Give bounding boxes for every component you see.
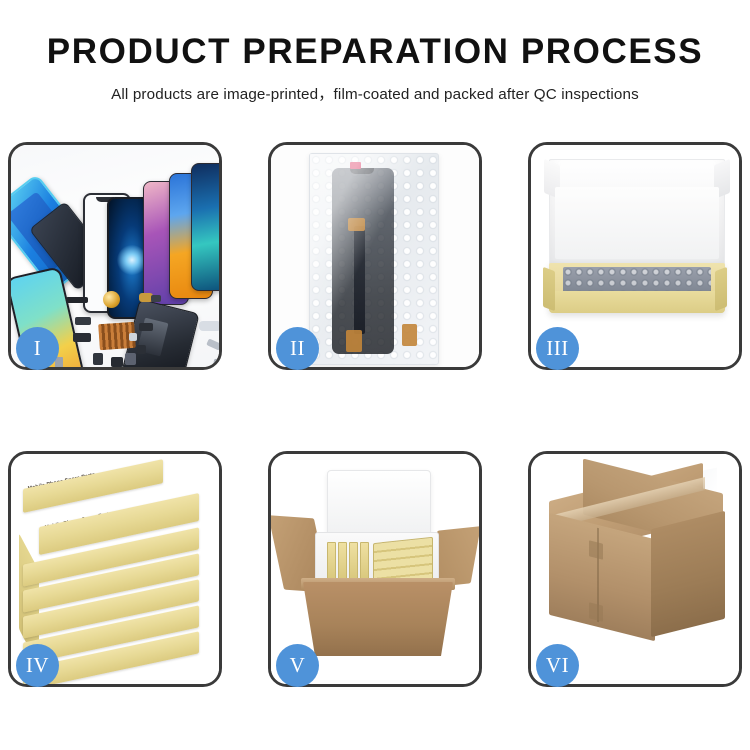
kraft-box-item [349,542,358,580]
step-panel-5: V [268,451,482,687]
qc-sticker-icon [350,162,361,169]
step-panel-1: I [8,142,222,370]
part-icon [129,333,137,341]
teal-display-icon [191,163,219,291]
step-badge-1: I [16,327,59,370]
page-subtitle: All products are image-printed，film-coat… [0,82,750,104]
step-panel-2: II [268,142,482,370]
step-panel-3: III [528,142,742,370]
carton-body [303,582,453,656]
kraft-tray-front [549,291,725,313]
page-title: PRODUCT PREPARATION PROCESS [0,34,750,71]
part-icon [66,297,88,303]
screwdriver-icon [206,338,219,350]
part-icon [139,323,153,331]
part-icon [137,345,146,354]
kraft-box-item [338,542,347,580]
flex-cable-icon [354,226,365,334]
carton-tab [589,540,603,559]
carton-side-face [651,511,725,637]
speaker-coil-icon [103,291,120,308]
part-icon [93,353,103,365]
foam-sheet-icon [555,187,719,259]
connector-icon [402,324,417,346]
product-preparation-page: PRODUCT PREPARATION PROCESS All products… [0,0,750,750]
kraft-box-item [327,542,336,580]
step-badge-2: II [276,327,319,370]
kraft-box-item [360,542,369,580]
carton-tab [589,602,603,621]
step-panel-6: VI [528,451,742,687]
connector-icon [348,218,365,231]
step-badge-3: III [536,327,579,370]
part-icon [73,333,91,342]
page-header: PRODUCT PREPARATION PROCESS All products… [0,0,750,104]
step-badge-5: V [276,644,319,687]
connector-icon [346,330,362,352]
process-steps-grid: I II [8,142,742,687]
part-icon [111,357,123,367]
kraft-tray-right [715,267,727,311]
step-badge-6: VI [536,644,579,687]
step-badge-4: IV [16,644,59,687]
tool-icon [199,321,219,331]
step-panel-4: Mobile Phone Spare Parts Mobile Phone Sp… [8,451,222,687]
part-icon [125,353,136,365]
kraft-tray-left [543,267,555,311]
part-icon [75,317,91,325]
bubble-wrap-bag-icon [309,153,439,365]
part-icon [151,295,161,302]
box-stack: Mobile Phone Spare Parts Mobile Phone Sp… [19,468,217,674]
screw-icon [212,358,219,367]
